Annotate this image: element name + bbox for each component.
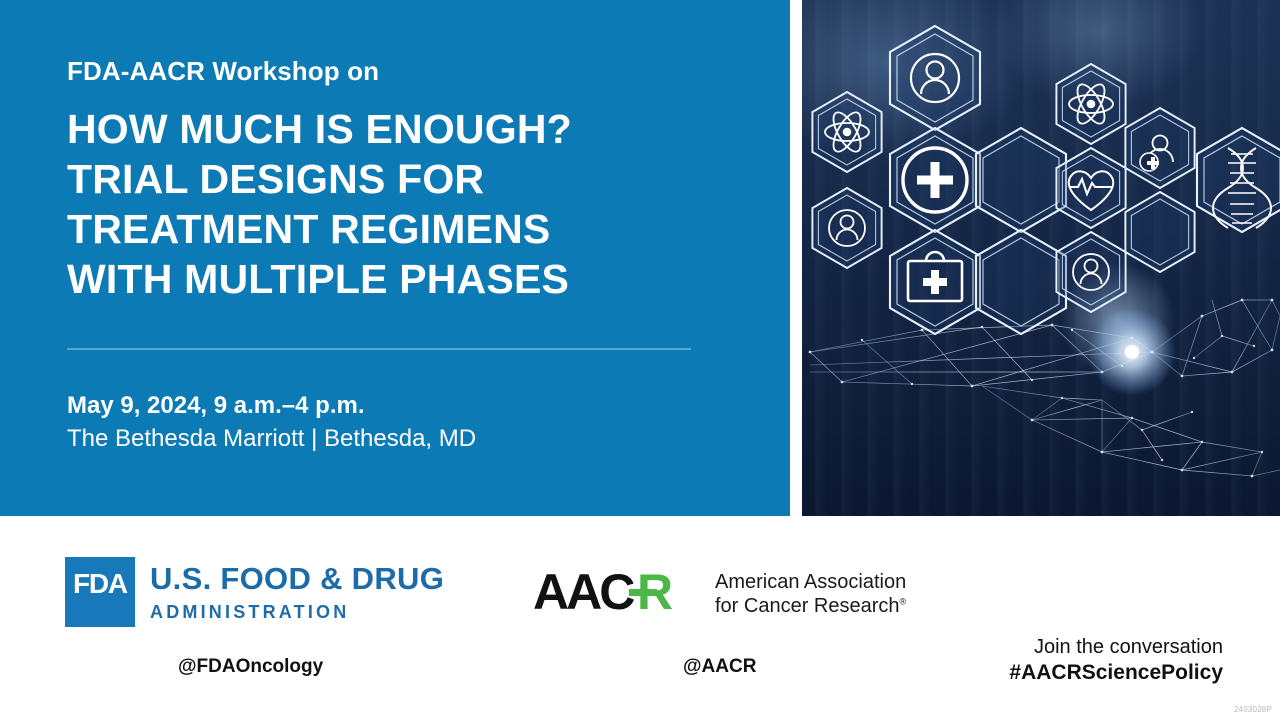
aacr-logo-mark: AAC R bbox=[533, 569, 703, 617]
page-title: HOW MUCH IS ENOUGH? TRIAL DESIGNS FOR TR… bbox=[67, 104, 767, 304]
aacr-tagline-line-1: American Association bbox=[715, 570, 906, 594]
hashtag: #AACRSciencePolicy bbox=[1009, 660, 1223, 686]
aacr-trademark: ® bbox=[900, 597, 907, 607]
aacr-tagline-line-2: for Cancer Research bbox=[715, 595, 900, 617]
hex-empty-3 bbox=[1125, 192, 1194, 272]
hex-person-top bbox=[890, 26, 980, 130]
footer: FDA U.S. FOOD & DRUG ADMINISTRATION @FDA… bbox=[0, 516, 1280, 720]
social-block: Join the conversation #AACRSciencePolicy bbox=[1009, 635, 1223, 686]
headline-line-1: HOW MUCH IS ENOUGH? bbox=[67, 104, 767, 154]
hex-person-left bbox=[812, 188, 881, 268]
event-date: May 9, 2024, 9 a.m.–4 p.m. bbox=[67, 392, 365, 420]
hex-medical-cross bbox=[890, 128, 980, 232]
fda-logo: FDA U.S. FOOD & DRUG ADMINISTRATION bbox=[65, 557, 444, 627]
fda-mark-text: FDA bbox=[73, 568, 127, 600]
hex-empty-1 bbox=[976, 128, 1066, 232]
hex-empty-2 bbox=[976, 230, 1066, 334]
hex-person-plus bbox=[1125, 108, 1194, 188]
workshop-eyebrow: FDA-AACR Workshop on bbox=[67, 56, 379, 87]
hex-atom-left bbox=[812, 92, 881, 172]
fda-wordmark-line-2: ADMINISTRATION bbox=[150, 603, 444, 621]
fda-wordmark-line-1: U.S. FOOD & DRUG bbox=[150, 563, 444, 594]
aacr-social-handle: @AACR bbox=[683, 656, 756, 678]
aacr-logo: AAC R American Association for Cancer Re… bbox=[533, 569, 906, 619]
hex-medical-bag bbox=[890, 230, 980, 334]
event-poster: FDA-AACR Workshop on HOW MUCH IS ENOUGH?… bbox=[0, 0, 1280, 720]
fda-social-handle: @FDAOncology bbox=[178, 656, 323, 678]
hero-blue-panel: FDA-AACR Workshop on HOW MUCH IS ENOUGH?… bbox=[0, 0, 790, 516]
fda-logo-mark: FDA bbox=[65, 557, 135, 627]
fda-wordmark: U.S. FOOD & DRUG ADMINISTRATION bbox=[150, 557, 444, 621]
hex-atom-right bbox=[1056, 64, 1125, 144]
hex-dna bbox=[1197, 128, 1280, 232]
headline-line-4: WITH MULTIPLE PHASES bbox=[67, 254, 767, 304]
divider bbox=[67, 348, 691, 350]
join-conversation-label: Join the conversation bbox=[1009, 635, 1223, 660]
aacr-tagline: American Association for Cancer Research… bbox=[715, 569, 906, 619]
headline-line-3: TREATMENT REGIMENS bbox=[67, 204, 767, 254]
hexagon-icon-cluster bbox=[802, 0, 1280, 516]
aacr-mark-black: AAC bbox=[533, 569, 634, 617]
headline-line-2: TRIAL DESIGNS FOR bbox=[67, 154, 767, 204]
aacr-tagline-line-2-wrap: for Cancer Research® bbox=[715, 594, 906, 618]
job-code: 2403028P bbox=[1234, 705, 1272, 714]
aacr-crossbar bbox=[629, 589, 657, 596]
event-venue: The Bethesda Marriott | Bethesda, MD bbox=[67, 425, 476, 453]
aacr-mark-svg: AAC R bbox=[533, 569, 703, 617]
hero-image bbox=[802, 0, 1280, 516]
